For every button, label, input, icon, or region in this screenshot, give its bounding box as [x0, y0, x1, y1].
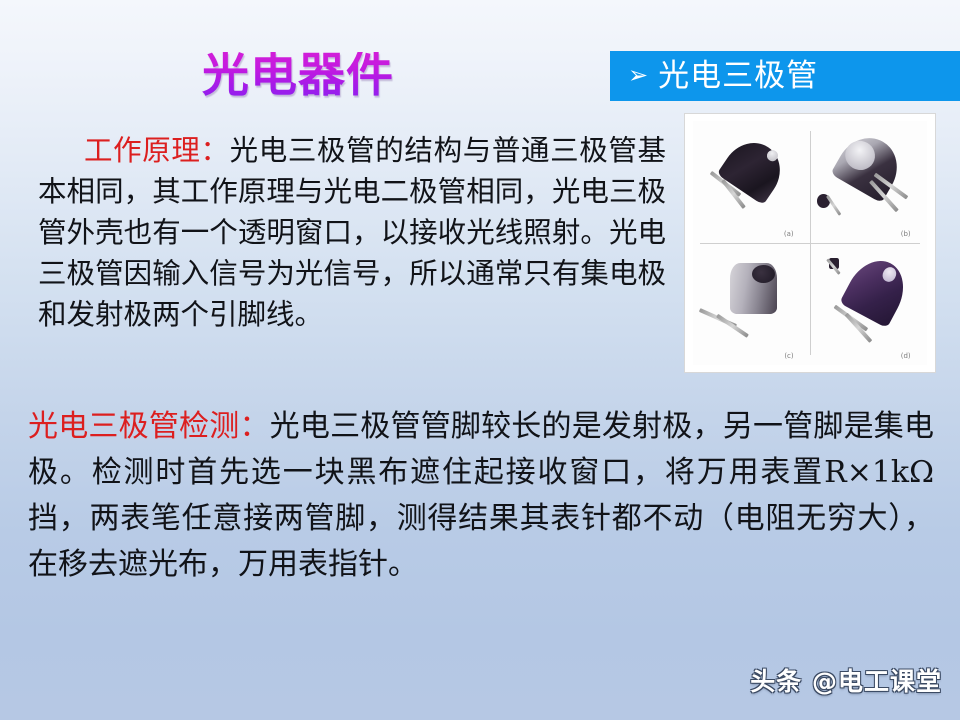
transistor-body-a — [716, 132, 791, 206]
paragraph-working-principle: 工作原理：光电三极管的结构与普通三极管基本相同，其工作原理与光电二极管相同，光电… — [38, 130, 666, 335]
transistor-window-c — [752, 265, 775, 283]
photo-caption-a: (a) — [784, 230, 794, 238]
phototransistor-photo: (a) (b) (c) — [684, 113, 936, 373]
watermark: 头条 @电工课堂 — [750, 662, 942, 698]
section-banner[interactable]: ➢ 光电三极管 — [610, 51, 960, 101]
transistor-lead-c2 — [716, 313, 749, 337]
paragraph-detection: 光电三极管检测：光电三极管管脚较长的是发射极，另一管脚是集电极。检测时首先选一块… — [28, 404, 934, 588]
photo-cell-a: (a) — [693, 121, 810, 243]
chevron-right-icon: ➢ — [628, 63, 648, 87]
photo-cell-d: (d) — [810, 243, 927, 365]
photo-inner: (a) (b) (c) — [693, 121, 927, 365]
photo-cell-b: (b) — [810, 121, 927, 243]
slide-canvas: 光电器件 ➢ 光电三极管 (a) — [0, 0, 960, 720]
section-banner-label: 光电三极管 — [658, 61, 818, 92]
photo-caption-d: (d) — [901, 352, 911, 360]
photo-cell-c: (c) — [693, 243, 810, 365]
page-title: 光电器件 — [148, 52, 448, 99]
photo-caption-b: (b) — [901, 230, 911, 238]
photo-caption-c: (c) — [784, 352, 793, 360]
paragraph1-lead: 工作原理： — [84, 134, 230, 167]
paragraph2-lead: 光电三极管检测： — [28, 409, 270, 444]
